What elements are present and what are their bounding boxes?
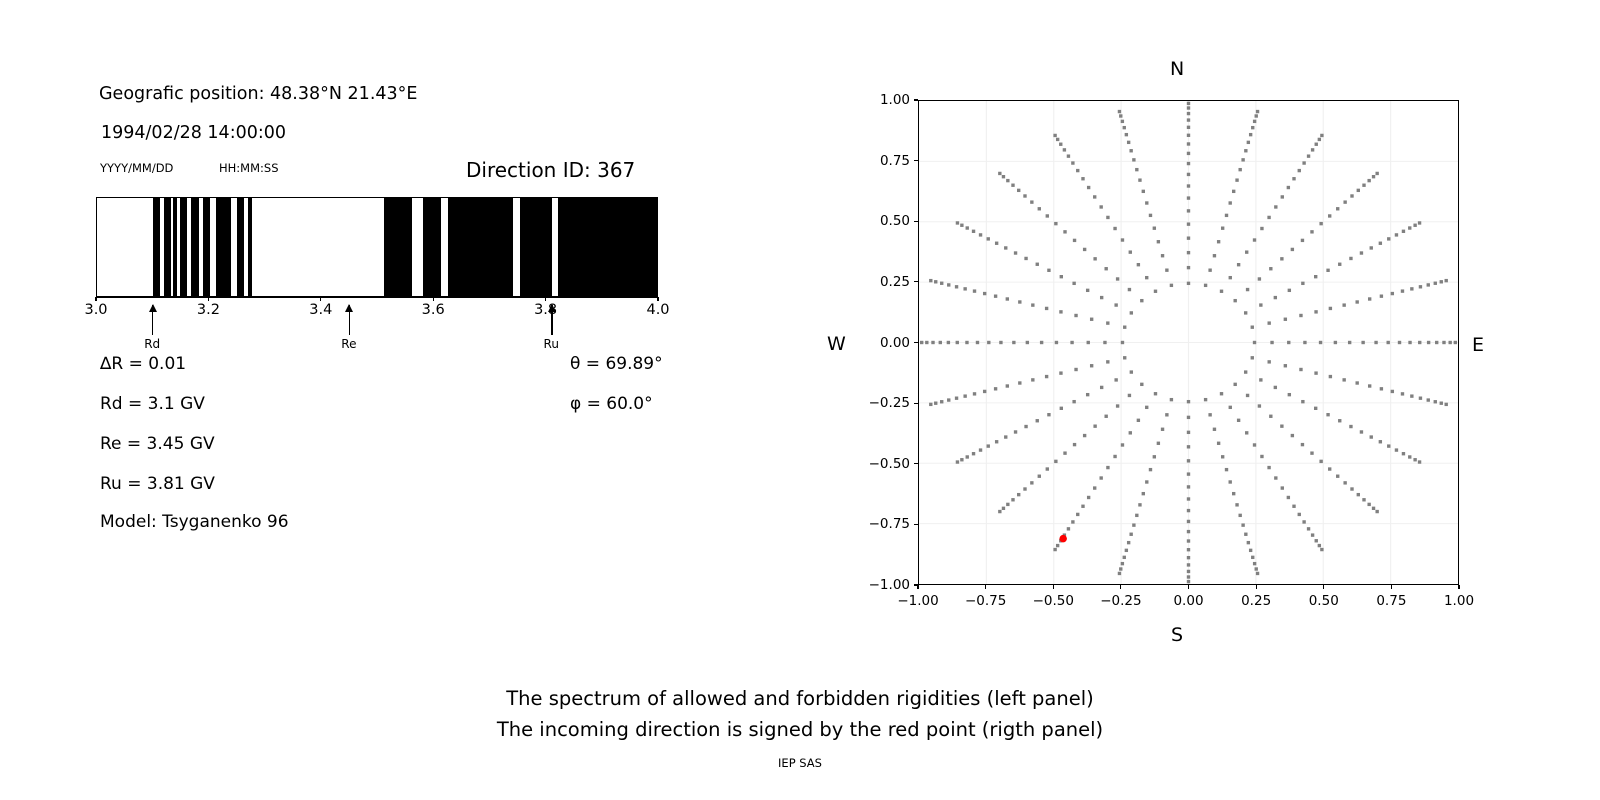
direction-point [1054, 460, 1057, 463]
direction-point [1059, 143, 1062, 146]
compass-south-label: S [1171, 624, 1183, 646]
axis-line [96, 297, 658, 298]
direction-point [1204, 398, 1207, 401]
direction-point [1153, 455, 1156, 458]
y-tick [914, 403, 918, 404]
direction-point [960, 458, 963, 461]
direction-point [1145, 480, 1148, 483]
direction-point [1319, 341, 1322, 344]
direction-point [1268, 360, 1271, 363]
direction-point [1165, 268, 1168, 271]
direction-point [1060, 275, 1063, 278]
direction-point [1208, 268, 1211, 271]
direction-point [1145, 276, 1148, 279]
direction-point [1259, 303, 1262, 306]
forbidden-band [153, 198, 160, 296]
direction-point [1343, 200, 1346, 203]
direction-point [1187, 222, 1190, 225]
direction-point [1237, 263, 1240, 266]
direction-point [1343, 481, 1346, 484]
direction-point [1374, 341, 1377, 344]
direction-point [1445, 403, 1448, 406]
direction-point [1274, 205, 1277, 208]
y-tick-label: 0.00 [852, 335, 910, 351]
direction-point [1154, 290, 1157, 293]
direction-point [1213, 254, 1216, 257]
direction-point [1006, 384, 1009, 387]
direction-point [1301, 239, 1304, 242]
direction-point [1030, 481, 1033, 484]
direction-point [983, 292, 986, 295]
direction-point [1006, 179, 1009, 182]
direction-point [1267, 466, 1270, 469]
direction-point [1258, 404, 1261, 407]
marker-label: Re [341, 337, 356, 351]
direction-point [1221, 227, 1224, 230]
direction-point [1074, 314, 1077, 317]
direction-point [929, 279, 932, 282]
direction-point [1153, 227, 1156, 230]
direction-point [1355, 381, 1358, 384]
direction-point [1314, 371, 1317, 374]
y-tick [914, 160, 918, 161]
direction-point [1099, 476, 1102, 479]
polar-scatter-axes [918, 100, 1459, 585]
spectrum-bands-container [96, 197, 658, 297]
param-delta-r: ∆R = 0.01 [100, 354, 186, 374]
direction-point [1059, 371, 1062, 374]
caption-line-1: The spectrum of allowed and forbidden ri… [0, 687, 1600, 710]
direction-point [1204, 284, 1207, 287]
y-tick-label: 1.00 [852, 92, 910, 108]
direction-point [1329, 375, 1332, 378]
direction-point [1370, 246, 1373, 249]
direction-point [1269, 267, 1272, 270]
x-tick-label: −0.75 [965, 593, 1006, 609]
spectrum-x-axis: 3.03.23.43.63.84.0RdReRu [96, 297, 658, 357]
direction-point [1017, 493, 1020, 496]
direction-point [955, 396, 958, 399]
direction-point [995, 440, 998, 443]
direction-point [1251, 356, 1254, 359]
direction-point [1187, 106, 1190, 109]
direction-point [1291, 248, 1294, 251]
figure-canvas: Geografic position: 48.38°N 21.43°E 1994… [0, 0, 1600, 800]
direction-point [1099, 205, 1102, 208]
direction-point [1071, 161, 1074, 164]
direction-point [1418, 221, 1421, 224]
direction-point [1187, 472, 1190, 475]
direction-point [931, 341, 934, 344]
y-tick [914, 584, 918, 585]
y-tick [914, 281, 918, 282]
direction-point [1046, 467, 1049, 470]
direction-point [1280, 257, 1283, 260]
param-model: Model: Tsyganenko 96 [100, 512, 289, 532]
credit-label: IEP SAS [0, 756, 1600, 770]
compass-west-label: W [827, 333, 846, 355]
marker-arrowhead [149, 304, 157, 312]
direction-point [1086, 289, 1089, 292]
direction-point [1046, 214, 1049, 217]
direction-point [976, 341, 979, 344]
x-tick-label: 4.0 [646, 302, 669, 318]
direction-point [1132, 158, 1135, 161]
direction-point [1220, 392, 1223, 395]
direction-point [1408, 226, 1411, 229]
param-phi: φ = 60.0° [570, 394, 653, 414]
direction-point [1410, 394, 1413, 397]
direction-point [1187, 162, 1190, 165]
direction-point [1255, 567, 1258, 570]
direction-point [1328, 214, 1331, 217]
forbidden-band [191, 198, 198, 296]
direction-point [1187, 118, 1190, 121]
direction-point [1318, 544, 1321, 547]
forbidden-band [448, 198, 513, 296]
direction-point [1326, 269, 1329, 272]
direction-point [1372, 507, 1375, 510]
direction-point [1307, 527, 1310, 530]
direction-point [1093, 424, 1096, 427]
direction-point [1053, 134, 1056, 137]
direction-point [1360, 430, 1363, 433]
direction-point [1245, 431, 1248, 434]
direction-point [1315, 539, 1318, 542]
direction-point [934, 401, 937, 404]
direction-point [1301, 443, 1304, 446]
direction-point [999, 341, 1002, 344]
x-tick [917, 585, 918, 589]
direction-point [1187, 236, 1190, 239]
marker-label: Rd [144, 337, 160, 351]
direction-point [1187, 102, 1190, 105]
direction-point [1237, 419, 1240, 422]
direction-point [1187, 548, 1190, 551]
direction-point [947, 341, 950, 344]
direction-point [1106, 360, 1109, 363]
direction-point [1434, 282, 1437, 285]
direction-point [1292, 505, 1295, 508]
direction-point [1434, 400, 1437, 403]
direction-point [1208, 413, 1211, 416]
direction-point [1187, 184, 1190, 187]
direction-point [1125, 133, 1128, 136]
direction-point [1408, 455, 1411, 458]
marker-arrowhead [548, 304, 556, 312]
direction-point [1104, 267, 1107, 270]
direction-point [1235, 178, 1238, 181]
direction-point [1251, 325, 1254, 328]
x-tick [1256, 585, 1257, 589]
direction-point [1076, 169, 1079, 172]
direction-point [1129, 149, 1132, 152]
direction-point [1081, 177, 1084, 180]
direction-point [1281, 195, 1284, 198]
direction-point [1357, 189, 1360, 192]
direction-point [1350, 194, 1353, 197]
direction-point [1116, 277, 1119, 280]
y-tick-label: −0.50 [852, 456, 910, 472]
direction-point [1187, 251, 1190, 254]
direction-point [1274, 476, 1277, 479]
direction-point [956, 221, 959, 224]
direction-point [1002, 507, 1005, 510]
x-tick [433, 297, 434, 301]
direction-point [1427, 398, 1430, 401]
forbidden-band [216, 198, 232, 296]
direction-point [1119, 114, 1122, 117]
direction-point [1074, 368, 1077, 371]
direction-point [1370, 435, 1373, 438]
direction-point [1249, 549, 1252, 552]
direction-point [1413, 458, 1416, 461]
direction-point [1410, 287, 1413, 290]
direction-point [1187, 142, 1190, 145]
forbidden-band [173, 198, 177, 296]
direction-point [1063, 451, 1066, 454]
direction-point [1118, 110, 1121, 113]
direction-point [1127, 541, 1130, 544]
direction-point [1258, 277, 1261, 280]
y-tick [914, 524, 918, 525]
direction-point [1220, 290, 1223, 293]
direction-point [1320, 548, 1323, 551]
compass-east-label: E [1472, 334, 1484, 356]
direction-point [1121, 562, 1124, 565]
direction-point [1157, 240, 1160, 243]
param-rd: Rd = 3.1 GV [100, 394, 205, 414]
direction-id-label: Direction ID: 367 [466, 158, 635, 182]
direction-point [1187, 580, 1190, 583]
direction-point [1106, 321, 1109, 324]
direction-point [1395, 448, 1398, 451]
marker-arrowhead [345, 304, 353, 312]
direction-point [1311, 148, 1314, 151]
direction-point [1244, 311, 1247, 314]
direction-point [1135, 168, 1138, 171]
forbidden-band [520, 198, 553, 296]
direction-point [1217, 240, 1220, 243]
direction-point [1247, 141, 1250, 144]
direction-point [1187, 530, 1190, 533]
direction-point [1128, 394, 1131, 397]
direction-point [1419, 285, 1422, 288]
direction-point [1251, 126, 1254, 129]
datetime-label: 1994/02/28 14:00:00 [101, 123, 286, 143]
direction-point [1367, 179, 1370, 182]
direction-point [1149, 468, 1152, 471]
direction-point [1123, 356, 1126, 359]
direction-point [1427, 283, 1430, 286]
x-tick-label: 3.4 [309, 302, 332, 318]
direction-point [963, 394, 966, 397]
direction-point [1221, 455, 1224, 458]
direction-point [1336, 207, 1339, 210]
direction-point [1054, 222, 1057, 225]
direction-point [1187, 400, 1190, 403]
direction-point [1072, 400, 1075, 403]
direction-point [1269, 415, 1272, 418]
direction-point [1402, 452, 1405, 455]
direction-point [1014, 430, 1017, 433]
direction-point [1380, 387, 1383, 390]
param-ru: Ru = 3.81 GV [100, 474, 215, 494]
direction-point [1006, 503, 1009, 506]
direction-point [956, 460, 959, 463]
direction-point [1047, 413, 1050, 416]
direction-point [1259, 378, 1262, 381]
direction-point [1413, 224, 1416, 227]
direction-point [1368, 297, 1371, 300]
direction-point [1187, 173, 1190, 176]
direction-point [1357, 493, 1360, 496]
direction-point [1024, 257, 1027, 260]
direction-point [1395, 233, 1398, 236]
y-tick-label: −1.00 [852, 577, 910, 593]
direction-point [1255, 114, 1258, 117]
direction-point [1187, 445, 1190, 448]
direction-point [1187, 126, 1190, 129]
direction-point [1187, 459, 1190, 462]
direction-point [1145, 201, 1148, 204]
direction-point [1123, 325, 1126, 328]
direction-point [1253, 238, 1256, 241]
direction-point [1142, 492, 1145, 495]
x-tick-label: 0.75 [1376, 593, 1406, 609]
direction-point [939, 341, 942, 344]
direction-point [1245, 250, 1248, 253]
direction-point [1012, 341, 1015, 344]
direction-point [1225, 214, 1228, 217]
direction-point [1318, 138, 1321, 141]
direction-point [1063, 230, 1066, 233]
direction-point [1063, 148, 1066, 151]
x-tick-label: −0.25 [1100, 593, 1141, 609]
direction-point [1187, 556, 1190, 559]
direction-point [1026, 341, 1029, 344]
direction-point [1387, 237, 1390, 240]
direction-point [1123, 126, 1126, 129]
direction-point [1448, 341, 1451, 344]
direction-point [1238, 168, 1241, 171]
y-tick-label: 0.50 [852, 213, 910, 229]
direction-grid-panel: N S W E −1.00−0.75−0.50−0.250.000.250.50… [760, 0, 1600, 660]
direction-point [1187, 485, 1190, 488]
direction-point [1379, 242, 1382, 245]
direction-point [973, 392, 976, 395]
direction-point [1070, 341, 1073, 344]
x-tick-label: 3.2 [197, 302, 220, 318]
direction-point [1106, 466, 1109, 469]
direction-point [987, 237, 990, 240]
direction-point [1247, 541, 1250, 544]
direction-point [1187, 570, 1190, 573]
direction-point [1408, 341, 1411, 344]
direction-point [1060, 407, 1063, 410]
direction-point [1040, 341, 1043, 344]
direction-point [1187, 266, 1190, 269]
direction-point [1006, 297, 1009, 300]
direction-point [1018, 381, 1021, 384]
direction-point [1284, 318, 1287, 321]
direction-point [1145, 406, 1148, 409]
direction-point [1121, 341, 1124, 344]
direction-point [1268, 321, 1271, 324]
x-tick [1053, 585, 1054, 589]
spectrum-plot [96, 197, 658, 297]
direction-point [1314, 275, 1317, 278]
x-tick [985, 585, 986, 589]
y-tick [914, 463, 918, 464]
x-tick-label: 0.00 [1173, 593, 1203, 609]
direction-point [1274, 386, 1277, 389]
direction-point [1440, 401, 1443, 404]
direction-point [1355, 300, 1358, 303]
direction-point [1170, 284, 1173, 287]
forbidden-band [384, 198, 413, 296]
direction-point [1187, 152, 1190, 155]
direction-point [1004, 246, 1007, 249]
direction-point [1217, 442, 1220, 445]
direction-point [983, 390, 986, 393]
direction-point [1336, 475, 1339, 478]
direction-point [1100, 296, 1103, 299]
direction-point [1418, 460, 1421, 463]
direction-point [1319, 460, 1322, 463]
direction-point [1187, 563, 1190, 566]
direction-point [1229, 276, 1232, 279]
param-theta: θ = 69.89° [570, 354, 663, 374]
direction-point [994, 294, 997, 297]
direction-point [1361, 341, 1364, 344]
direction-point [1031, 303, 1034, 306]
direction-point [1100, 386, 1103, 389]
direction-point [1379, 440, 1382, 443]
direction-point [1291, 434, 1294, 437]
direction-point [1116, 404, 1119, 407]
y-tick-label: −0.25 [852, 395, 910, 411]
direction-point [1229, 480, 1232, 483]
direction-point [1187, 134, 1190, 137]
direction-point [1326, 413, 1329, 416]
direction-point [1301, 282, 1304, 285]
x-tick [1188, 585, 1189, 589]
direction-point [1187, 112, 1190, 115]
direction-point [1301, 400, 1304, 403]
direction-point [1187, 196, 1190, 199]
direction-point [1187, 539, 1190, 542]
x-tick [1120, 585, 1121, 589]
direction-point [1349, 425, 1352, 428]
direction-point [1129, 250, 1132, 253]
direction-point [995, 242, 998, 245]
direction-point [1113, 455, 1116, 458]
direction-point [1233, 383, 1236, 386]
direction-point [1090, 318, 1093, 321]
direction-point [1017, 189, 1020, 192]
direction-point [1280, 424, 1283, 427]
direction-point [1090, 364, 1093, 367]
direction-point [1023, 194, 1026, 197]
direction-point [1165, 413, 1168, 416]
direction-point [1047, 269, 1050, 272]
direction-point [1320, 134, 1323, 137]
direction-point [1149, 214, 1152, 217]
y-tick [914, 221, 918, 222]
direction-point [1113, 227, 1116, 230]
direction-point [1348, 341, 1351, 344]
